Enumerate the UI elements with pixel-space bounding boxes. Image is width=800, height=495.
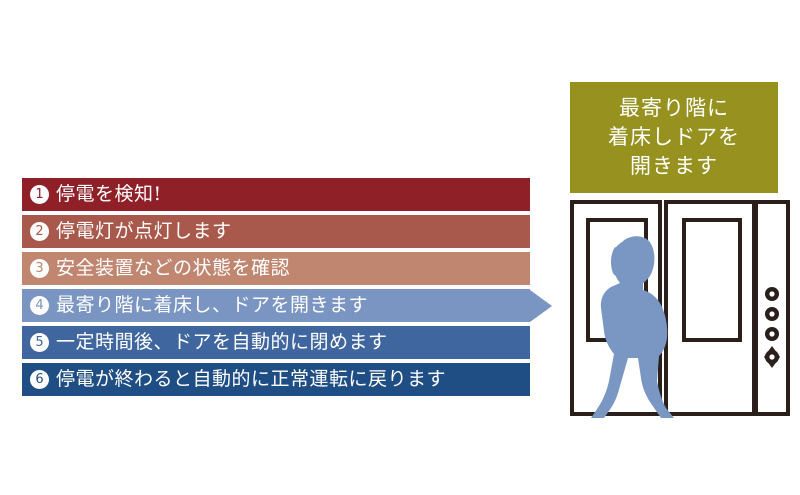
step-number-badge-5: 5	[30, 333, 49, 352]
step-list: 1 停電を検知! 2 停電灯が点灯します 3 安全装置などの状態を確認 4 最寄…	[22, 178, 530, 400]
step-number-badge-6: 6	[30, 370, 49, 389]
callout-line-2: 着床しドアを	[608, 123, 740, 152]
step-bar-6: 6 停電が終わると自動的に正常運転に戻ります	[22, 363, 530, 396]
step-number-badge-1: 1	[30, 185, 49, 204]
step-number-badge-2: 2	[30, 222, 49, 241]
step-label-2: 停電灯が点灯します	[56, 222, 530, 241]
round-button-3	[765, 327, 779, 341]
step-number-badge-3: 3	[30, 259, 49, 278]
elevator-illustration	[558, 196, 794, 420]
step-label-5: 一定時間後、ドアを自動的に閉めます	[56, 333, 530, 352]
step-bar-2: 2 停電灯が点灯します	[22, 215, 530, 248]
round-button-1	[765, 287, 779, 301]
step-bar-1: 1 停電を検知!	[22, 178, 530, 211]
nearest-floor-callout: 最寄り階に 着床しドアを 開きます	[570, 82, 778, 193]
step-number-badge-4: 4	[30, 296, 49, 315]
step-label-6: 停電が終わると自動的に正常運転に戻ります	[56, 370, 530, 389]
arrow-right-icon	[530, 290, 552, 322]
step-label-1: 停電を検知!	[56, 185, 530, 204]
round-button-2	[765, 307, 779, 321]
callout-line-3: 開きます	[630, 152, 718, 181]
figure-canvas: 最寄り階に 着床しドアを 開きます 1 停電を検知! 2 停電灯が点灯します 3…	[0, 0, 800, 495]
step-label-4: 最寄り階に着床し、ドアを開きます	[56, 296, 530, 315]
callout-line-1: 最寄り階に	[619, 94, 729, 123]
step-bar-4: 4 最寄り階に着床し、ドアを開きます	[22, 289, 530, 322]
step-bar-5: 5 一定時間後、ドアを自動的に閉めます	[22, 326, 530, 359]
step-bar-3: 3 安全装置などの状態を確認	[22, 252, 530, 285]
step-label-3: 安全装置などの状態を確認	[56, 259, 530, 278]
right-door-panel	[666, 202, 754, 414]
